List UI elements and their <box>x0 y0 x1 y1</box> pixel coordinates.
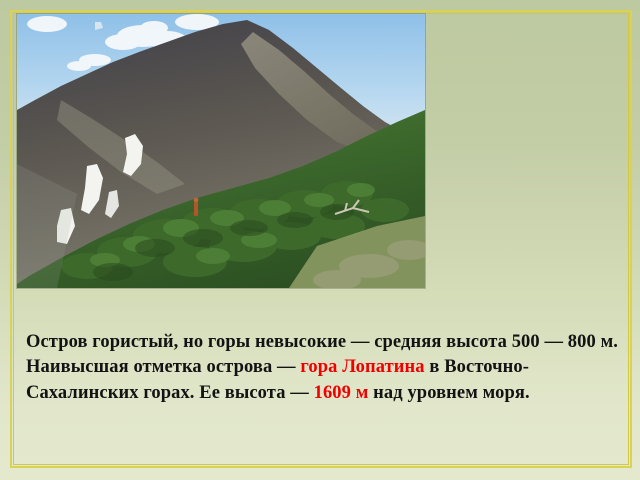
caption-segment-3: над уровнем моря. <box>368 383 529 403</box>
slide: Остров гористый, но горы невысокие — сре… <box>0 0 640 480</box>
caption-text: Остров гористый, но горы невысокие — сре… <box>26 330 618 407</box>
caption-highlight-mountain: гора Лопатина <box>300 357 424 377</box>
photo-figure <box>194 198 199 216</box>
mountain-photo-graphic <box>17 14 425 288</box>
mountain-photo <box>17 14 425 288</box>
caption-highlight-elevation: 1609 м <box>314 383 369 403</box>
